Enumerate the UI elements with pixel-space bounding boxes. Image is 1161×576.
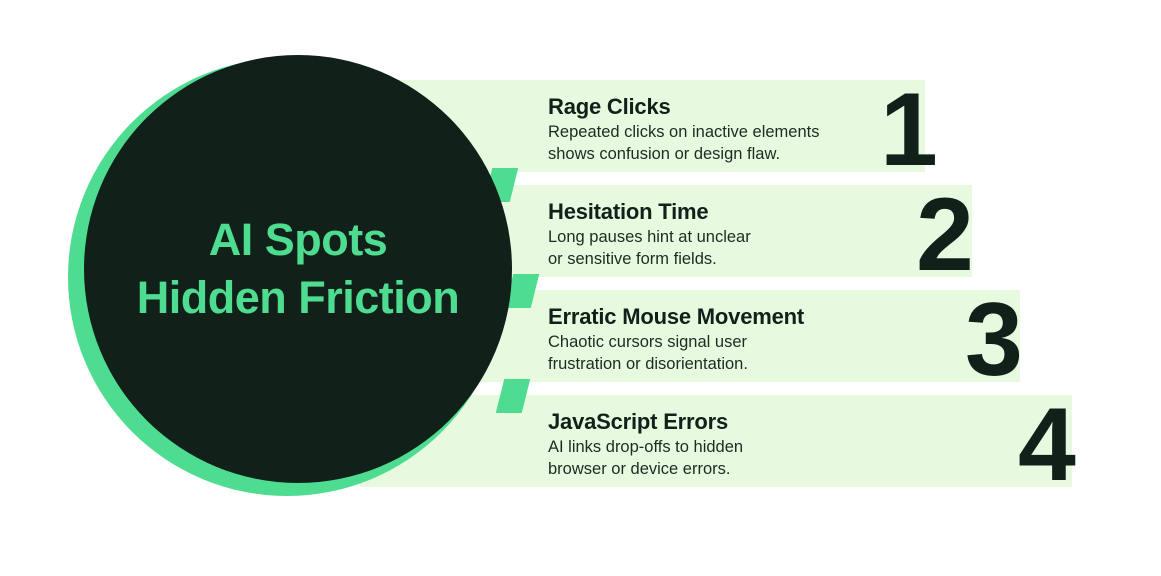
- center-title: AI Spots Hidden Friction: [123, 211, 474, 326]
- item-number-3: 3: [965, 288, 1020, 392]
- item-description-4: AI links drop-offs to hidden browser or …: [548, 437, 743, 481]
- item-description-1: Repeated clicks on inactive elements sho…: [548, 122, 819, 166]
- center-circle: AI Spots Hidden Friction: [84, 55, 512, 483]
- item-title-3: Erratic Mouse Movement: [548, 304, 804, 330]
- item-text-3: Erratic Mouse Movement Chaotic cursors s…: [548, 304, 804, 376]
- item-title-2: Hesitation Time: [548, 199, 751, 225]
- item-number-1: 1: [880, 78, 935, 182]
- center-title-line-2: Hidden Friction: [137, 269, 460, 327]
- item-number-2: 2: [916, 183, 971, 287]
- item-description-2: Long pauses hint at unclear or sensitive…: [548, 227, 751, 271]
- item-title-4: JavaScript Errors: [548, 409, 743, 435]
- item-title-1: Rage Clicks: [548, 94, 819, 120]
- item-number-4: 4: [1018, 393, 1073, 497]
- item-description-3: Chaotic cursors signal user frustration …: [548, 332, 804, 376]
- item-text-2: Hesitation Time Long pauses hint at uncl…: [548, 199, 751, 271]
- item-text-1: Rage Clicks Repeated clicks on inactive …: [548, 94, 819, 166]
- infographic-root: AI Spots Hidden Friction Rage Clicks Rep…: [0, 0, 1161, 576]
- center-title-line-1: AI Spots: [137, 211, 460, 269]
- item-text-4: JavaScript Errors AI links drop-offs to …: [548, 409, 743, 481]
